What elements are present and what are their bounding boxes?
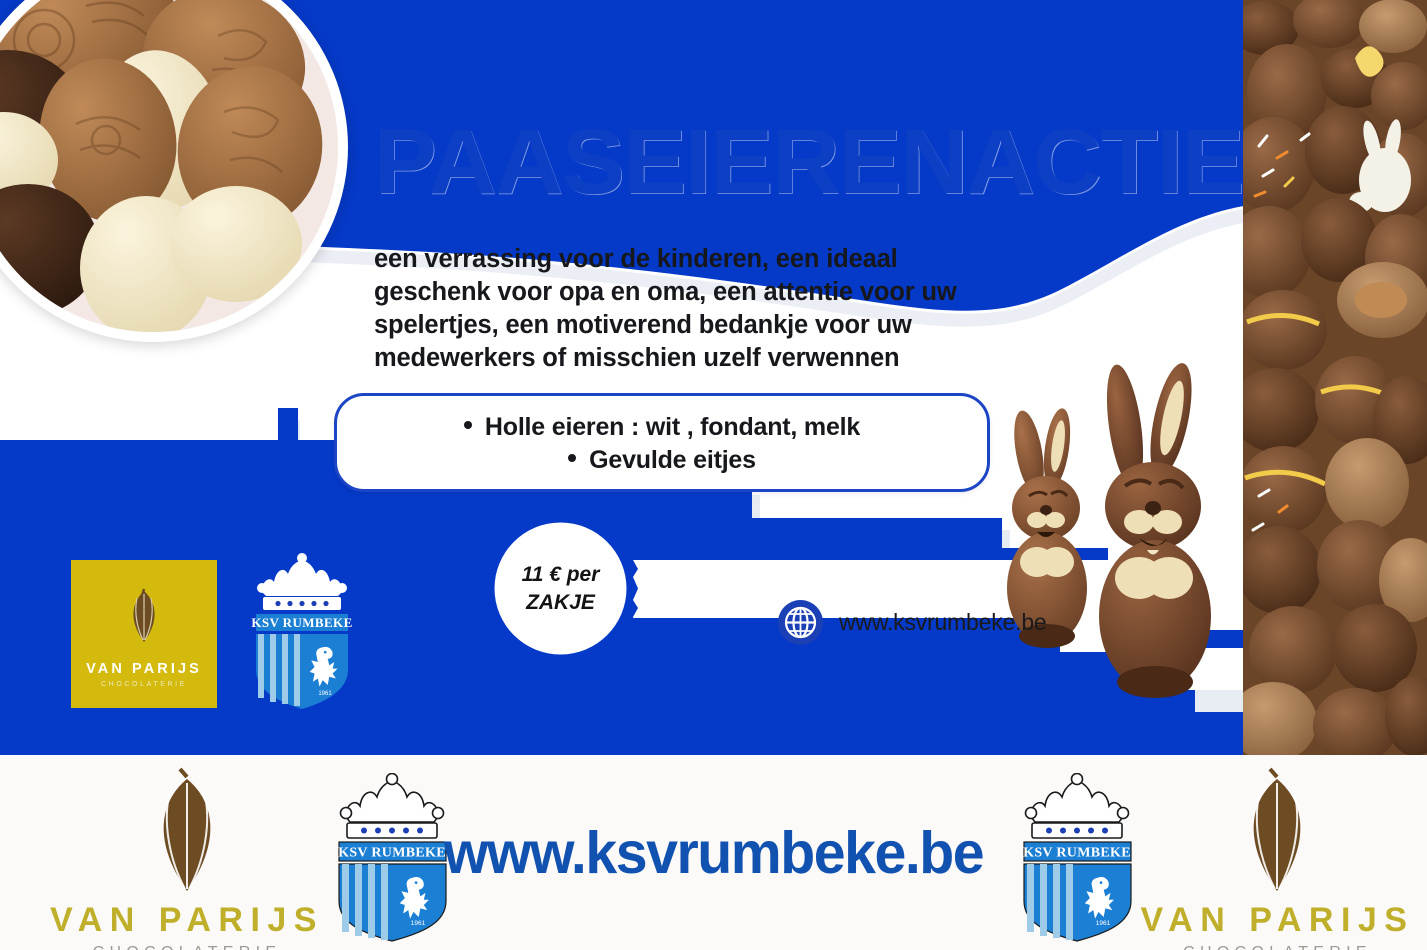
cocoa-pod-icon [1230, 767, 1325, 897]
price-badge: 11 € per ZAKJE [483, 511, 638, 666]
cocoa-pod-icon [122, 586, 166, 646]
product-item-2: Gevulde eitjes [568, 444, 756, 477]
price-line-2: ZAKJE [526, 589, 595, 617]
svg-text:KSV RUMBEKE: KSV RUMBEKE [1023, 846, 1131, 861]
bottom-bar: VAN PARIJS CHOCOLATERIE Noordlaan 73, 88… [0, 755, 1427, 950]
intro-line-2: geschenk voor opa en oma, een attentie v… [374, 276, 1054, 309]
crest-year: 1961 [1096, 920, 1111, 927]
van-parijs-logo-bottom-right: VAN PARIJS CHOCOLATERIE Noordlaan 73, 88… [1130, 767, 1425, 950]
page-title: PAASEIERENACTIE [374, 118, 1243, 206]
bullet-icon [464, 421, 472, 429]
bullet-icon [568, 454, 576, 462]
van-parijs-logo-mid: VAN PARIJS CHOCOLATERIE [71, 560, 217, 708]
easter-eggs-photo [0, 0, 338, 332]
product-list-box: Holle eieren : wit , fondant, melk Gevul… [334, 393, 990, 492]
intro-line-1: een verrassing voor de kinderen, een ide… [374, 243, 1054, 276]
ksv-rumbeke-crest-mid: KSV RUMBEKE 1961 [248, 552, 356, 712]
ksv-crest-icon: KSV RUMBEKE 1961 [1015, 773, 1140, 943]
right-photo-strip [1243, 0, 1427, 755]
svg-text:KSV RUMBEKE: KSV RUMBEKE [251, 615, 352, 630]
easter-eggs-illustration [0, 0, 338, 332]
mini-eggs-photo [1243, 0, 1427, 755]
globe-icon [778, 600, 823, 645]
ksv-rumbeke-crest-bottom-right: KSV RUMBEKE 1961 [1015, 773, 1140, 943]
intro-paragraph: een verrassing voor de kinderen, een ide… [374, 243, 1054, 375]
product-item-1: Holle eieren : wit , fondant, melk [464, 411, 860, 444]
bunnies-illustration [985, 362, 1240, 737]
poster-root: PAASEIERENACTIE een verrassing voor de k… [0, 0, 1427, 950]
page-title-text: PAASEIERENACTIE [374, 118, 1243, 206]
crest-year: 1961 [318, 691, 332, 697]
chocolate-bunnies [985, 362, 1240, 737]
price-badge-text: 11 € per ZAKJE [483, 511, 638, 666]
product-item-1-label: Holle eieren : wit , fondant, melk [485, 413, 860, 441]
intro-line-4: medewerkers of misschien uzelf verwennen [374, 342, 1054, 375]
van-parijs-subtitle-mid: CHOCOLATERIE [101, 681, 187, 688]
ksv-crest-icon: KSV RUMBEKE 1961 [248, 552, 356, 712]
van-parijs-name-bottom-right: VAN PARIJS [1140, 901, 1414, 940]
website-link-bottom-label: www.ksvrumbeke.be [444, 819, 983, 887]
van-parijs-subtitle-bottom-right: CHOCOLATERIE [1183, 944, 1372, 950]
website-link-mid-label: www.ksvrumbeke.be [839, 609, 1047, 636]
website-link-mid[interactable]: www.ksvrumbeke.be [778, 600, 1047, 645]
price-line-1: 11 € per [522, 561, 600, 589]
product-item-2-label: Gevulde eitjes [589, 446, 756, 474]
van-parijs-name-mid: VAN PARIJS [86, 661, 202, 677]
intro-line-3: spelertjes, een motiverend bedankje voor… [374, 309, 1054, 342]
